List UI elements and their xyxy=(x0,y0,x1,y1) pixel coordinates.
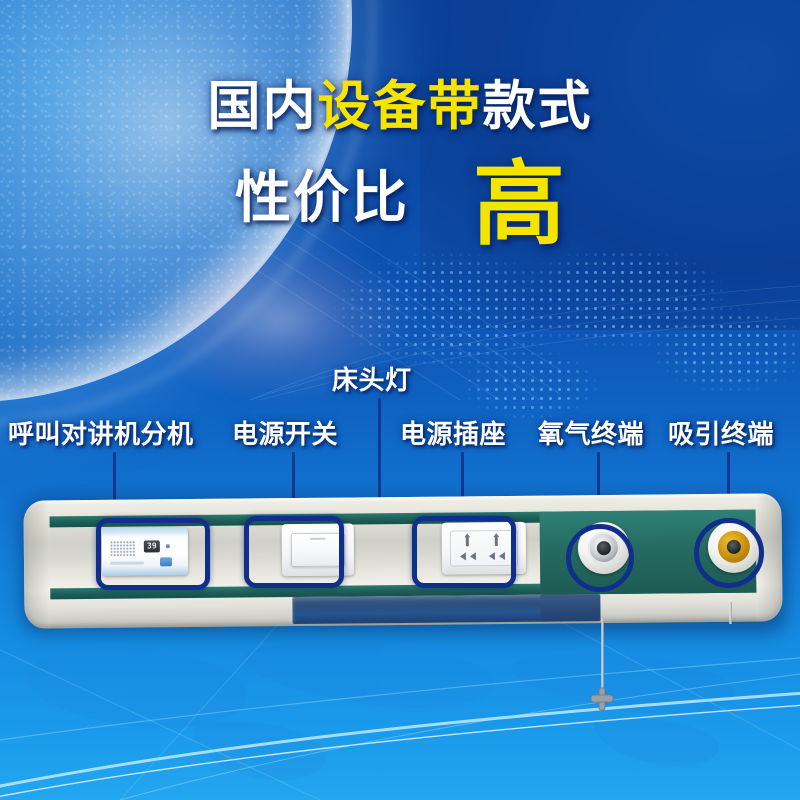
callout-labels-layer: 呼叫对讲机分机 电源开关 床头灯 电源插座 氧气终端 吸引终端 xyxy=(0,0,800,800)
callout-label-suction: 吸引终端 xyxy=(668,414,774,451)
callout-label-intercom: 呼叫对讲机分机 xyxy=(8,414,194,451)
highlight-box-power-switch xyxy=(244,516,344,588)
highlight-circle-oxygen xyxy=(566,524,634,592)
callout-label-bed-lamp: 床头灯 xyxy=(332,360,412,397)
oxygen-pull-cord[interactable] xyxy=(601,618,604,696)
callout-label-oxygen: 氧气终端 xyxy=(538,414,644,451)
panel-left-end-cap xyxy=(23,500,50,628)
highlight-box-intercom xyxy=(96,518,210,590)
pull-cord-handle-icon[interactable] xyxy=(589,686,615,712)
bed-lamp-light-strip[interactable] xyxy=(292,594,564,624)
suction-pull-cord[interactable] xyxy=(729,602,732,624)
bed-lamp-light-strip-segment xyxy=(540,594,600,622)
promo-banner: 国内设备带款式 性价比 高 呼叫对讲机分机 电源开关 床头灯 电源插座 氧气终端… xyxy=(0,0,800,800)
highlight-circle-suction xyxy=(694,518,764,588)
callout-label-power-switch: 电源开关 xyxy=(232,414,338,451)
callout-label-power-socket: 电源插座 xyxy=(400,414,506,451)
highlight-box-power-socket xyxy=(412,516,516,588)
